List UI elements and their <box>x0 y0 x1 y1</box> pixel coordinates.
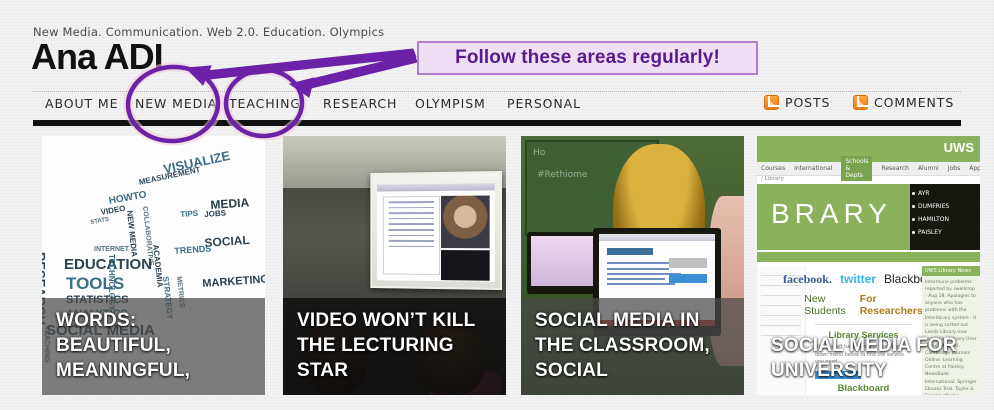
uws-campus-item: HAMILTON <box>918 216 980 223</box>
word-cloud-term: TIPS <box>180 209 198 219</box>
featured-card-card-university[interactable]: UWSCoursesInternationalSchools & DeptsRe… <box>757 136 980 395</box>
uws-menu-item[interactable]: Research <box>881 165 909 172</box>
word-cloud-term: INTERNET <box>94 246 129 253</box>
uws-main-menu: CoursesInternationalSchools & DeptsResea… <box>757 162 980 176</box>
card-caption[interactable]: VIDEO WON’T KILL THE LECTURING STAR <box>283 298 506 395</box>
uws-breadcrumb: / Library <box>761 176 784 182</box>
uws-menu-item[interactable]: Schools & Depts <box>841 156 872 181</box>
word-cloud-term: VIDEO <box>100 204 126 217</box>
projection-screen <box>370 171 502 290</box>
card-caption[interactable]: SOCIAL MEDIA IN THE CLASSROOM, SOCIAL <box>521 298 744 395</box>
word-cloud-term: MARKETING <box>202 273 265 290</box>
uws-hero: BRARYAYRDUMFRIESHAMILTONPAISLEY <box>757 184 980 250</box>
uws-menu-item[interactable]: Jobs <box>948 165 960 172</box>
uws-menu-item[interactable]: Alumni <box>918 165 939 172</box>
word-cloud-term: STATS <box>90 217 110 226</box>
uws-campus-list: AYRDUMFRIESHAMILTONPAISLEY <box>910 184 980 250</box>
featured-card-card-video[interactable]: VIDEO WON’T KILL THE LECTURING STAR <box>283 136 506 395</box>
featured-card-card-classroom[interactable]: Ho#RethiomeSOCIAL MEDIA IN THE CLASSROOM… <box>521 136 744 395</box>
uws-news-heading: UWS Library News <box>922 266 980 276</box>
uws-menu-item[interactable]: Apply <box>969 165 980 172</box>
uws-link-for-researchers[interactable]: For Researchers <box>860 293 923 317</box>
twitter-logo[interactable]: twitter <box>840 272 876 286</box>
uws-campus-item: PAISLEY <box>918 229 980 236</box>
card-caption[interactable]: WORDS: BEAUTIFUL, MEANINGFUL, <box>42 298 265 395</box>
featured-card-card-words[interactable]: VISUALIZEMEASUREMENTHOWTOVIDEOSTATSMEDIA… <box>42 136 265 395</box>
word-cloud-term: TRENDS <box>174 243 212 256</box>
uws-link-new-students[interactable]: New Students <box>804 293 845 317</box>
annotation-callout: Follow these areas regularly! <box>417 41 758 75</box>
word-cloud-term: JOBS <box>204 208 226 218</box>
uws-campus-item: AYR <box>918 190 980 197</box>
uws-menu-item[interactable]: Courses <box>761 165 785 172</box>
uws-logo: UWS <box>944 140 974 155</box>
card-caption[interactable]: SOCIAL MEDIA FOR UNIVERSITY <box>757 323 980 395</box>
word-cloud-term: HOWTO <box>108 189 147 206</box>
uws-strip <box>757 252 980 262</box>
uws-hero-word: BRARY <box>771 198 892 230</box>
uws-menu-item[interactable]: International <box>794 165 832 172</box>
facebook-logo[interactable]: facebook. <box>783 272 832 287</box>
uws-campus-item: DUMFRIES <box>918 203 980 210</box>
